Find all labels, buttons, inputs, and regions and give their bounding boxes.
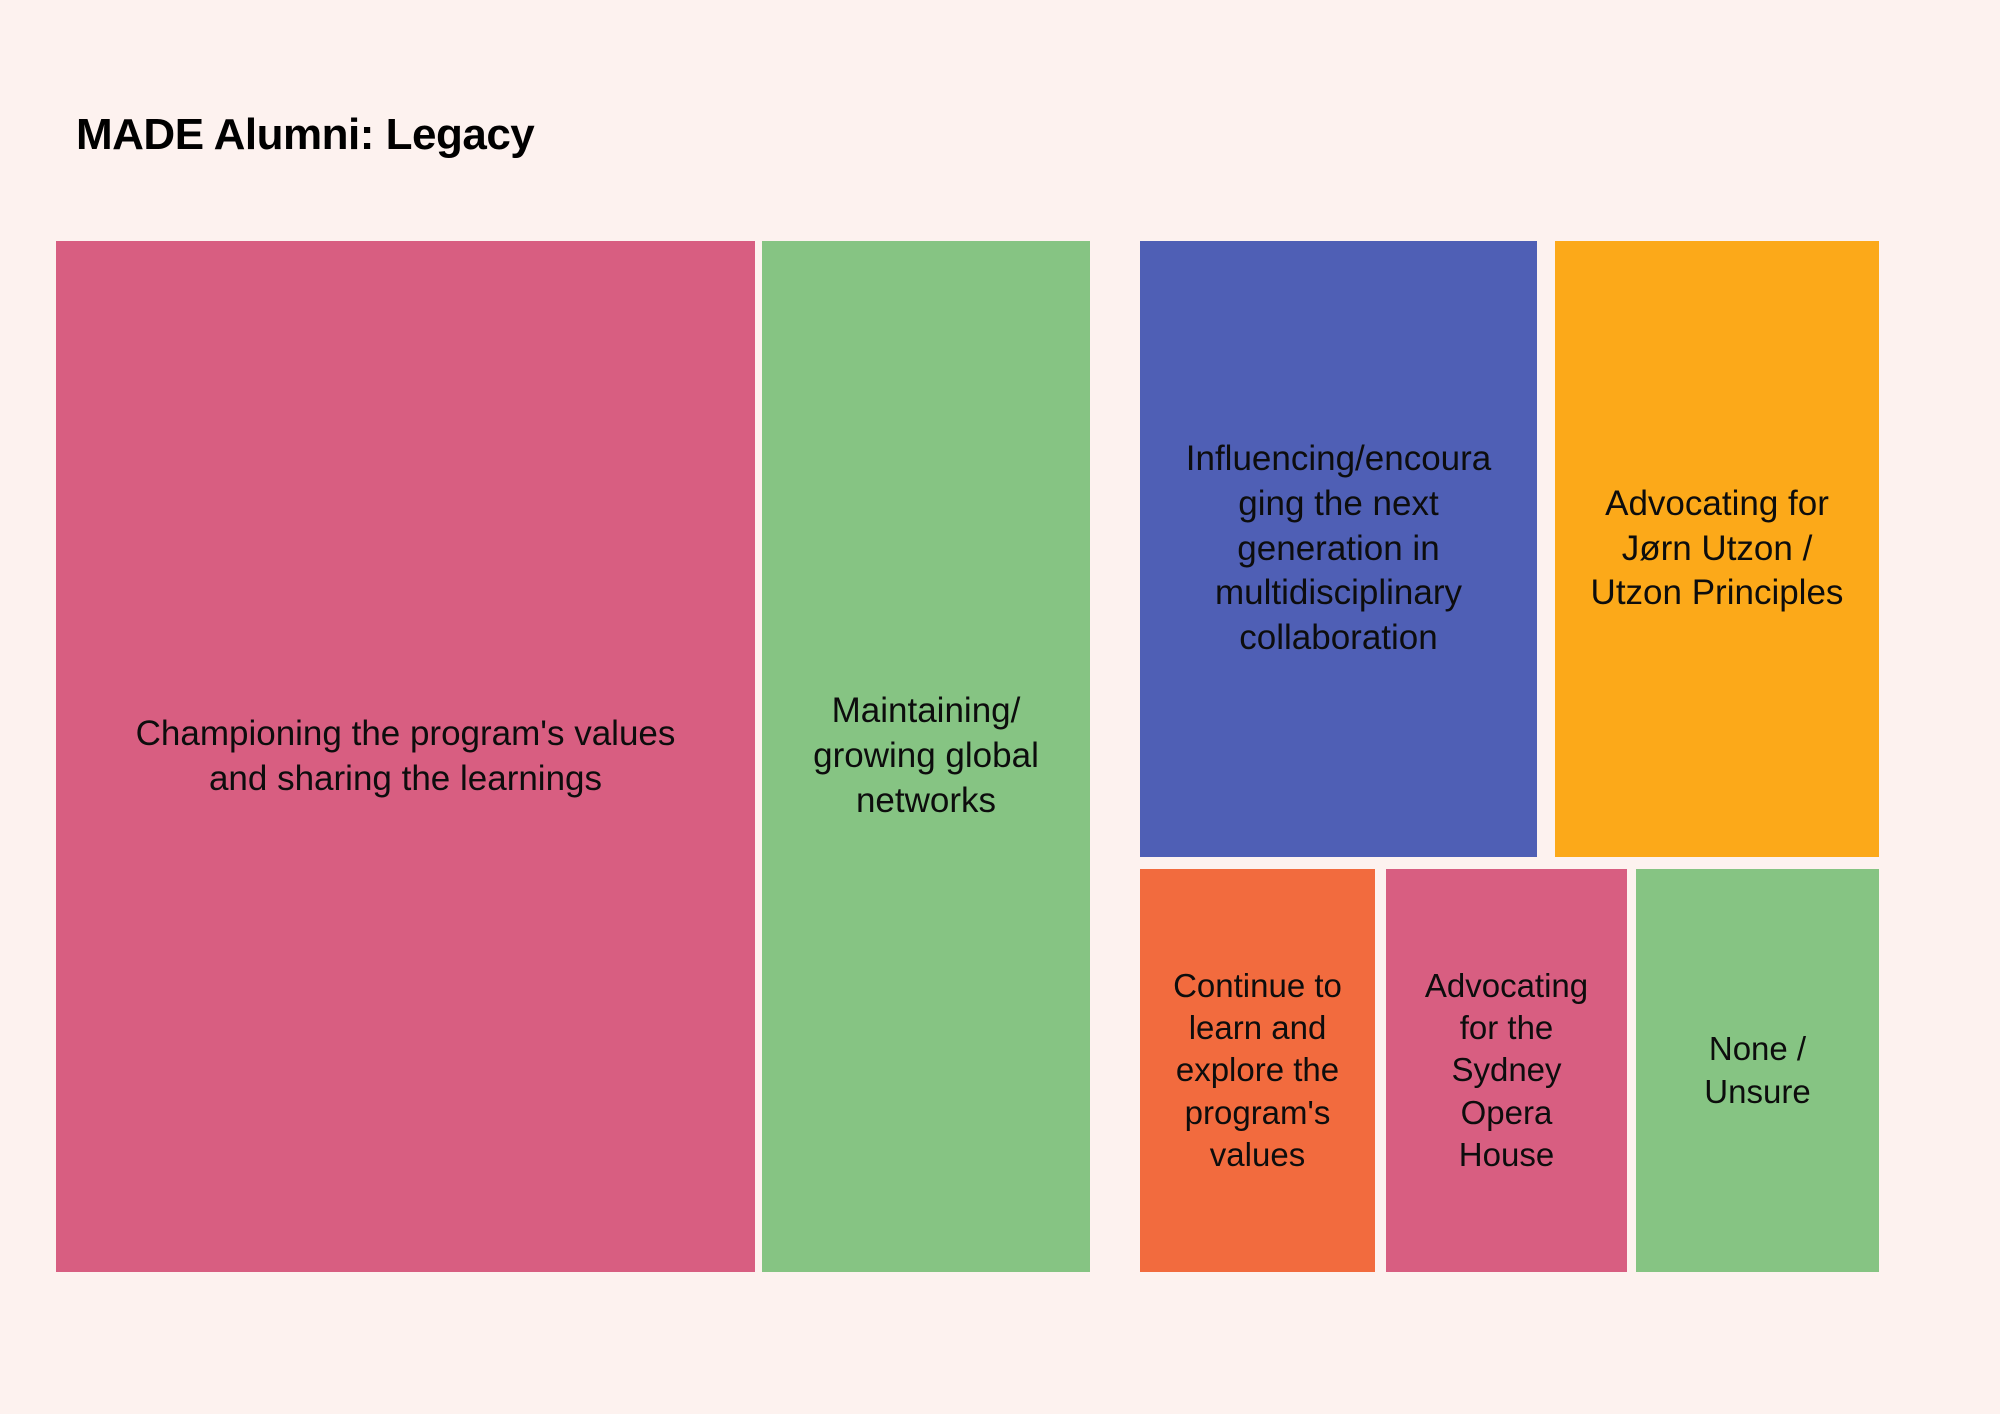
treemap-cell-label: Championing the program's values and sha… bbox=[110, 712, 702, 802]
treemap-chart: Championing the program's values and sha… bbox=[56, 241, 1879, 1272]
treemap-cell-label: None / Unsure bbox=[1694, 1028, 1820, 1112]
treemap-cell-advocating-sydney-opera-house[interactable]: Advocating for the Sydney Opera House bbox=[1386, 869, 1627, 1272]
page-title: MADE Alumni: Legacy bbox=[76, 110, 534, 160]
treemap-page: MADE Alumni: Legacy Championing the prog… bbox=[0, 0, 2000, 1414]
treemap-cell-label: Advocating for Jørn Utzon / Utzon Princi… bbox=[1581, 482, 1854, 616]
treemap-cell-continue-learning[interactable]: Continue to learn and explore the progra… bbox=[1140, 869, 1375, 1272]
treemap-cell-label: Influencing/encoura ging the next genera… bbox=[1176, 437, 1502, 661]
treemap-cell-advocating-utzon[interactable]: Advocating for Jørn Utzon / Utzon Princi… bbox=[1555, 241, 1879, 857]
treemap-cell-maintaining[interactable]: Maintaining/ growing global networks bbox=[762, 241, 1090, 1272]
treemap-cell-label: Advocating for the Sydney Opera House bbox=[1415, 965, 1598, 1176]
treemap-cell-championing[interactable]: Championing the program's values and sha… bbox=[56, 241, 755, 1272]
treemap-cell-label: Continue to learn and explore the progra… bbox=[1163, 965, 1352, 1176]
treemap-cell-influencing[interactable]: Influencing/encoura ging the next genera… bbox=[1140, 241, 1537, 857]
treemap-cell-none-unsure[interactable]: None / Unsure bbox=[1636, 869, 1879, 1272]
treemap-cell-label: Maintaining/ growing global networks bbox=[803, 689, 1049, 823]
